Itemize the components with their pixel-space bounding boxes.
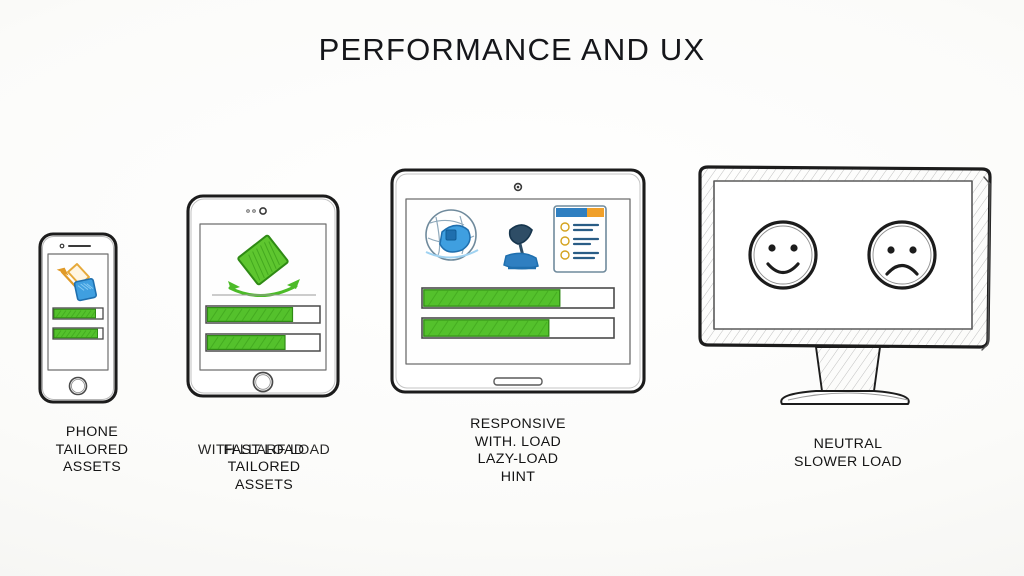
device-laptop[interactable]: RESPONSIVE WITH. LOAD LAZY-LOAD HINT [382, 160, 654, 486]
device-phone[interactable]: PHONE TAILORED ASSETS [12, 228, 172, 477]
tablet-illustration [168, 188, 360, 410]
device-monitor[interactable]: NEUTRAL SLOWER LOAD [688, 160, 1008, 471]
phone-shell [12, 228, 172, 410]
caption-phone: PHONE TAILORED ASSETS [12, 424, 172, 477]
document-card-icon [554, 206, 606, 272]
phone-illustration [12, 228, 172, 410]
monitor-illustration [688, 160, 1008, 410]
device-row: PHONE TAILORED ASSETS [0, 0, 1024, 576]
caption-tablet-overlay: WITH LLARF LOAD [168, 442, 360, 460]
caption-laptop: RESPONSIVE WITH. LOAD LAZY-LOAD HINT [382, 416, 654, 486]
caption-tablet: FAST LOAD TAILORED ASSETS WITH LLARF LOA… [168, 424, 360, 512]
laptop-shell [382, 160, 654, 404]
device-tablet[interactable]: FAST LOAD TAILORED ASSETS WITH LLARF LOA… [168, 188, 360, 512]
caption-monitor: NEUTRAL SLOWER LOAD [688, 436, 1008, 471]
tablet-shell [168, 188, 360, 410]
frowning-face-icon [869, 222, 935, 288]
laptop-illustration [382, 160, 654, 404]
monitor-shell [688, 160, 1008, 410]
smiley-face-icon [750, 222, 816, 288]
